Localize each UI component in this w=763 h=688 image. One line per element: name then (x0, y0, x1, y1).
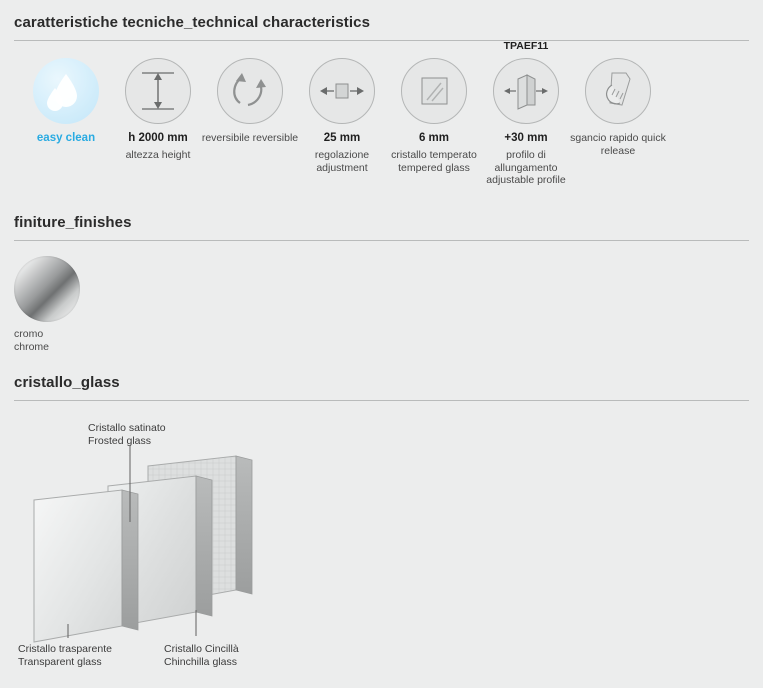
tech-sub-quick-release: sgancio rapido quick release (566, 132, 670, 157)
tech-item-reversible: reversibile reversible (198, 58, 302, 145)
water-drops-icon (33, 58, 99, 124)
adjustable-profile-icon (493, 58, 559, 124)
glass-diagram: Cristallo satinato Frosted glass Cristal… (0, 400, 763, 688)
page-root: caratteristiche tecniche_technical chara… (0, 0, 763, 688)
frosted-glass-caption: Cristallo satinato Frosted glass (88, 422, 166, 447)
quick-release-hand-icon (585, 58, 651, 124)
tech-item-quick-release: sgancio rapido quick release (566, 58, 670, 157)
adjustment-arrows-icon (309, 58, 375, 124)
tech-label-tempered-glass: 6 mm (382, 132, 486, 145)
divider-technical (14, 40, 749, 41)
chinchilla-glass-caption: Cristallo Cincillà Chinchilla glass (164, 643, 239, 668)
tempered-glass-icon (401, 58, 467, 124)
section-title-technical: caratteristiche tecniche_technical chara… (14, 14, 370, 31)
tech-item-tempered-glass: 6 mm cristallo temperato tempered glass (382, 58, 486, 174)
chrome-caption: cromo chrome (14, 328, 124, 353)
height-arrow-icon (125, 58, 191, 124)
tech-item-easy-clean: easy clean (14, 58, 118, 149)
tech-label-easy-clean: easy clean (14, 132, 118, 145)
technical-icons-row: easy clean h 2000 mm altezza height (14, 58, 749, 188)
panel-transparent (34, 490, 138, 642)
tech-code-adjustable-profile: TPAEF11 (474, 40, 578, 52)
tech-sub-adjustment: regolazione adjustment (290, 149, 394, 174)
tech-label-adjustable-profile: +30 mm (474, 132, 578, 145)
section-title-finishes: finiture_finishes (14, 214, 132, 231)
tech-sub-tempered-glass: cristallo temperato tempered glass (382, 149, 486, 174)
divider-finishes (14, 240, 749, 241)
tech-sub-reversible: reversibile reversible (198, 132, 302, 145)
tech-item-adjustable-profile: TPAEF11 +30 mm profilo di allungamento a… (474, 58, 578, 187)
tech-sub-adjustable-profile: profilo di allungamento adjustable profi… (474, 149, 578, 187)
reversible-arrows-icon (217, 58, 283, 124)
tech-label-height: h 2000 mm (106, 132, 210, 145)
tech-item-height: h 2000 mm altezza height (106, 58, 210, 162)
tech-item-adjustment: 25 mm regolazione adjustment (290, 58, 394, 174)
transparent-glass-caption: Cristallo trasparente Transparent glass (18, 643, 112, 668)
chrome-swatch (14, 256, 80, 322)
tech-label-adjustment: 25 mm (290, 132, 394, 145)
tech-sub-height: altezza height (106, 149, 210, 162)
section-title-glass: cristallo_glass (14, 374, 120, 391)
